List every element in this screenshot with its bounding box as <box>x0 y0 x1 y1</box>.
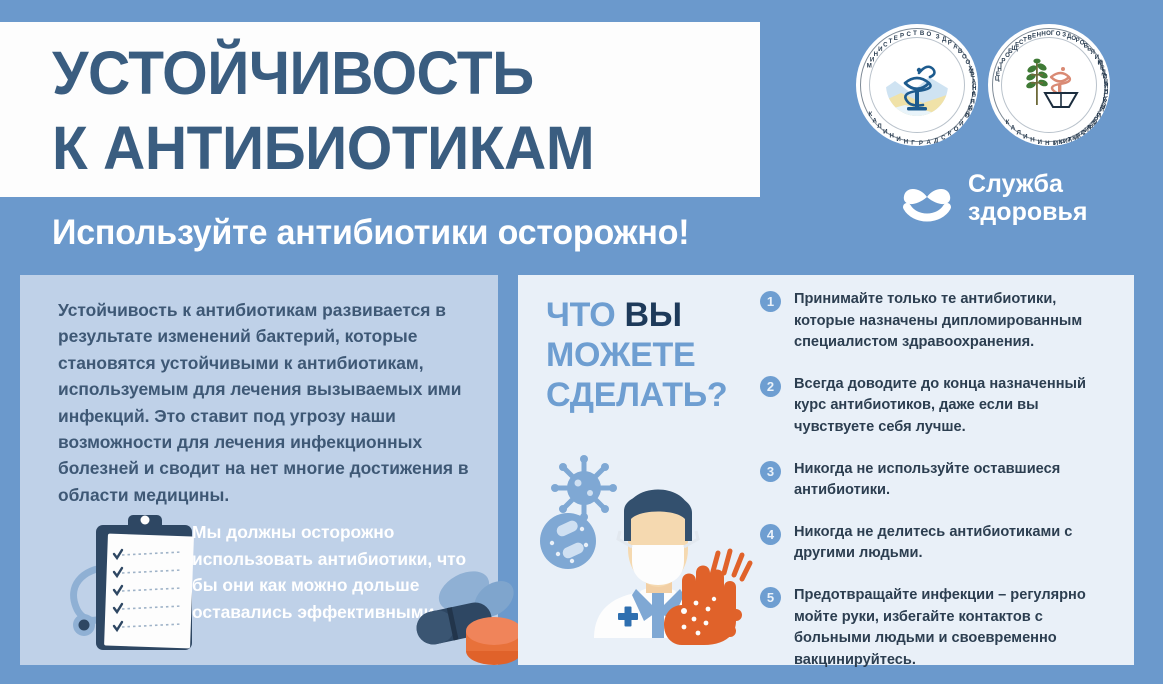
health-service-logo: Служба здоровья <box>900 170 1087 226</box>
title-line-1: УСТОЙЧИВОСТЬ <box>52 36 732 111</box>
what-can-you-do-heading: ЧТО ВЫ МОЖЕТЕ СДЕЛАТЬ? <box>546 295 727 415</box>
step-text: Всегда доводите до конца назначенный кур… <box>794 374 1116 439</box>
step-number-badge: 2 <box>760 376 781 397</box>
list-item: 1 Принимайте только те антибиотики, кото… <box>760 289 1116 354</box>
list-item: 4 Никогда не делитесь антибиотиками с др… <box>760 522 1116 565</box>
step-text: Никогда не используйте оставшиеся антиби… <box>794 459 1116 502</box>
title-banner: УСТОЙЧИВОСТЬ К АНТИБИОТИКАМ <box>0 22 760 197</box>
pills-capsules-icon <box>402 565 534 670</box>
step-text: Никогда не делитесь антибиотиками с друг… <box>794 522 1116 565</box>
health-service-label: Служба здоровья <box>968 170 1087 226</box>
heading-line-3: СДЕЛАТЬ? <box>546 375 727 415</box>
step-number-badge: 5 <box>760 587 781 608</box>
public-health-center-seal: Ц Е Н Т Р О Б Щ Е С Т В Е Н Н О Г О З Д <box>988 24 1110 146</box>
health-service-line-1: Служба <box>968 170 1087 198</box>
resistance-description: Устойчивость к антибиотикам развивается … <box>58 297 478 508</box>
right-actions-panel: ЧТО ВЫ МОЖЕТЕ СДЕЛАТЬ? <box>518 275 1134 665</box>
heading-word-vy: ВЫ <box>625 296 682 334</box>
list-item: 2 Всегда доводите до конца назначенный к… <box>760 374 1116 439</box>
step-number-badge: 1 <box>760 291 781 312</box>
step-text: Принимайте только те антибиотики, которы… <box>794 289 1116 354</box>
left-panel-callout-area: Мы должны осторожно использовать антибио… <box>20 507 498 665</box>
organization-seals: М И Н И С Т Е Р С Т В О З Д Р А В О О Х <box>856 24 1110 146</box>
list-item: 3 Никогда не используйте оставшиеся анти… <box>760 459 1116 502</box>
seal-ring-text: Ц Е Н Т Р О Б Щ Е С Т В Е Н Н О Г О З Д <box>988 24 1110 146</box>
heading-line-2: МОЖЕТЕ <box>546 335 727 375</box>
action-steps-list: 1 Принимайте только те антибиотики, кото… <box>760 289 1116 684</box>
health-service-line-2: здоровья <box>968 198 1087 226</box>
heart-smile-icon <box>900 172 954 224</box>
ministry-of-health-seal: М И Н И С Т Е Р С Т В О З Д Р А В О О Х <box>856 24 978 146</box>
heading-line-1: ЧТО ВЫ <box>546 295 727 335</box>
virus-icon <box>551 455 617 521</box>
step-text: Предотвращайте инфекции – регулярно мойт… <box>794 585 1116 671</box>
seal-ring-text: М И Н И С Т Е Р С Т В О З Д Р А В О О Х <box>856 24 978 146</box>
doctor-hygiene-icon <box>536 453 786 653</box>
list-item: 5 Предотвращайте инфекции – регулярно мо… <box>760 585 1116 671</box>
left-info-panel: Устойчивость к антибиотикам развивается … <box>20 275 498 665</box>
step-number-badge: 3 <box>760 461 781 482</box>
subtitle: Используйте антибиотики осторожно! <box>52 211 689 255</box>
title-line-2: К АНТИБИОТИКАМ <box>52 111 732 186</box>
bacteria-icon <box>540 513 596 569</box>
step-number-badge: 4 <box>760 524 781 545</box>
infographic-poster: УСТОЙЧИВОСТЬ К АНТИБИОТИКАМ Используйте … <box>0 0 1163 684</box>
heading-word-chto: ЧТО <box>546 296 625 334</box>
